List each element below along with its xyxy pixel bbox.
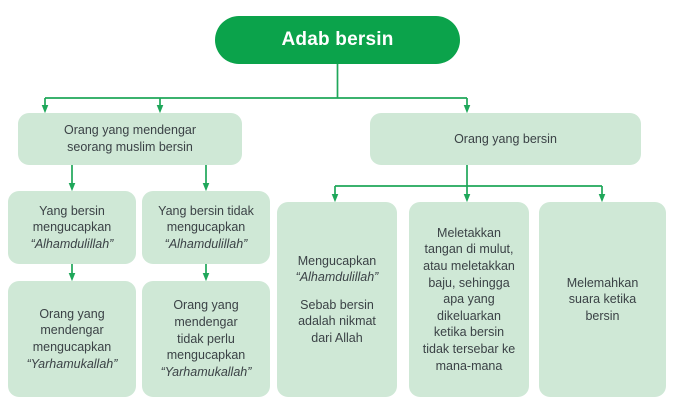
node-r2b-line-3: atau meletakkan <box>423 258 515 275</box>
node-mengucapkan-alhamdulillah[interactable]: Mengucapkan “Alhamdulillah” Sebab bersin… <box>277 202 397 397</box>
node-yang-bersin-mengucapkan[interactable]: Yang bersin mengucapkan “Alhamdulillah” <box>8 191 136 264</box>
node-left-branch-line-1: Orang yang mendengar <box>64 122 196 139</box>
node-r2c-line-1: Melemahkan <box>567 275 639 292</box>
node-r2b-line-7: ketika bersin <box>434 324 504 341</box>
node-l2b-line-3: “Alhamdulillah” <box>165 236 248 253</box>
node-r2a-line-2: “Alhamdulillah” <box>296 269 379 286</box>
node-pendengar-tidak-perlu-mengucapkan[interactable]: Orang yang mendengar tidak perlu menguca… <box>142 281 270 397</box>
node-r2b-line-9: mana-mana <box>436 358 503 375</box>
node-r2b-line-8: tidak tersebar ke <box>423 341 515 358</box>
flowchart-canvas: Adab bersin Orang yang mendengar seorang… <box>0 0 676 417</box>
node-l3b-line-4: mengucapkan <box>167 347 246 364</box>
node-right-branch-line-1: Orang yang bersin <box>454 131 557 148</box>
node-l3a-line-1: Orang yang <box>39 306 104 323</box>
node-l2b-line-1: Yang bersin tidak <box>158 203 254 220</box>
node-r2b-line-1: Meletakkan <box>437 225 501 242</box>
node-r2c-line-3: bersin <box>585 308 619 325</box>
node-l3b-line-1: Orang yang <box>173 297 238 314</box>
node-l2a-line-1: Yang bersin <box>39 203 105 220</box>
node-r2b-line-2: tangan di mulut, <box>425 241 514 258</box>
node-l2a-line-3: “Alhamdulillah” <box>31 236 114 253</box>
node-left-branch-line-2: seorang muslim bersin <box>67 139 193 156</box>
node-l3a-line-3: mengucapkan <box>33 339 112 356</box>
node-melemahkan-suara-ketika-bersin[interactable]: Melemahkan suara ketika bersin <box>539 202 666 397</box>
node-r2a-line-5: adalah nikmat <box>298 313 376 330</box>
node-r2b-line-5: apa yang <box>443 291 494 308</box>
node-r2b-line-4: baju, sehingga <box>428 275 509 292</box>
node-r2a-line-4: Sebab bersin <box>300 297 374 314</box>
node-left-branch[interactable]: Orang yang mendengar seorang muslim bers… <box>18 113 242 165</box>
node-l3a-line-4: “Yarhamukallah” <box>27 356 118 373</box>
node-meletakkan-tangan-di-mulut[interactable]: Meletakkan tangan di mulut, atau meletak… <box>409 202 529 397</box>
node-l2a-line-2: mengucapkan <box>33 219 112 236</box>
node-r2b-line-6: dikeluarkan <box>437 308 501 325</box>
node-l3a-line-2: mendengar <box>40 322 103 339</box>
node-yang-bersin-tidak-mengucapkan[interactable]: Yang bersin tidak mengucapkan “Alhamduli… <box>142 191 270 264</box>
node-r2a-line-6: dari Allah <box>311 330 362 347</box>
node-root-label: Adab bersin <box>282 29 394 51</box>
node-r2c-line-2: suara ketika <box>569 291 636 308</box>
node-l3b-line-5: “Yarhamukallah” <box>161 364 252 381</box>
node-l2b-line-2: mengucapkan <box>167 219 246 236</box>
node-r2a-line-1: Mengucapkan <box>298 253 377 270</box>
node-right-branch[interactable]: Orang yang bersin <box>370 113 641 165</box>
node-l3b-line-2: mendengar <box>174 314 237 331</box>
node-pendengar-mengucapkan-yarhamukallah[interactable]: Orang yang mendengar mengucapkan “Yarham… <box>8 281 136 397</box>
node-root-adab-bersin[interactable]: Adab bersin <box>215 16 460 64</box>
node-l3b-line-3: tidak perlu <box>177 331 235 348</box>
